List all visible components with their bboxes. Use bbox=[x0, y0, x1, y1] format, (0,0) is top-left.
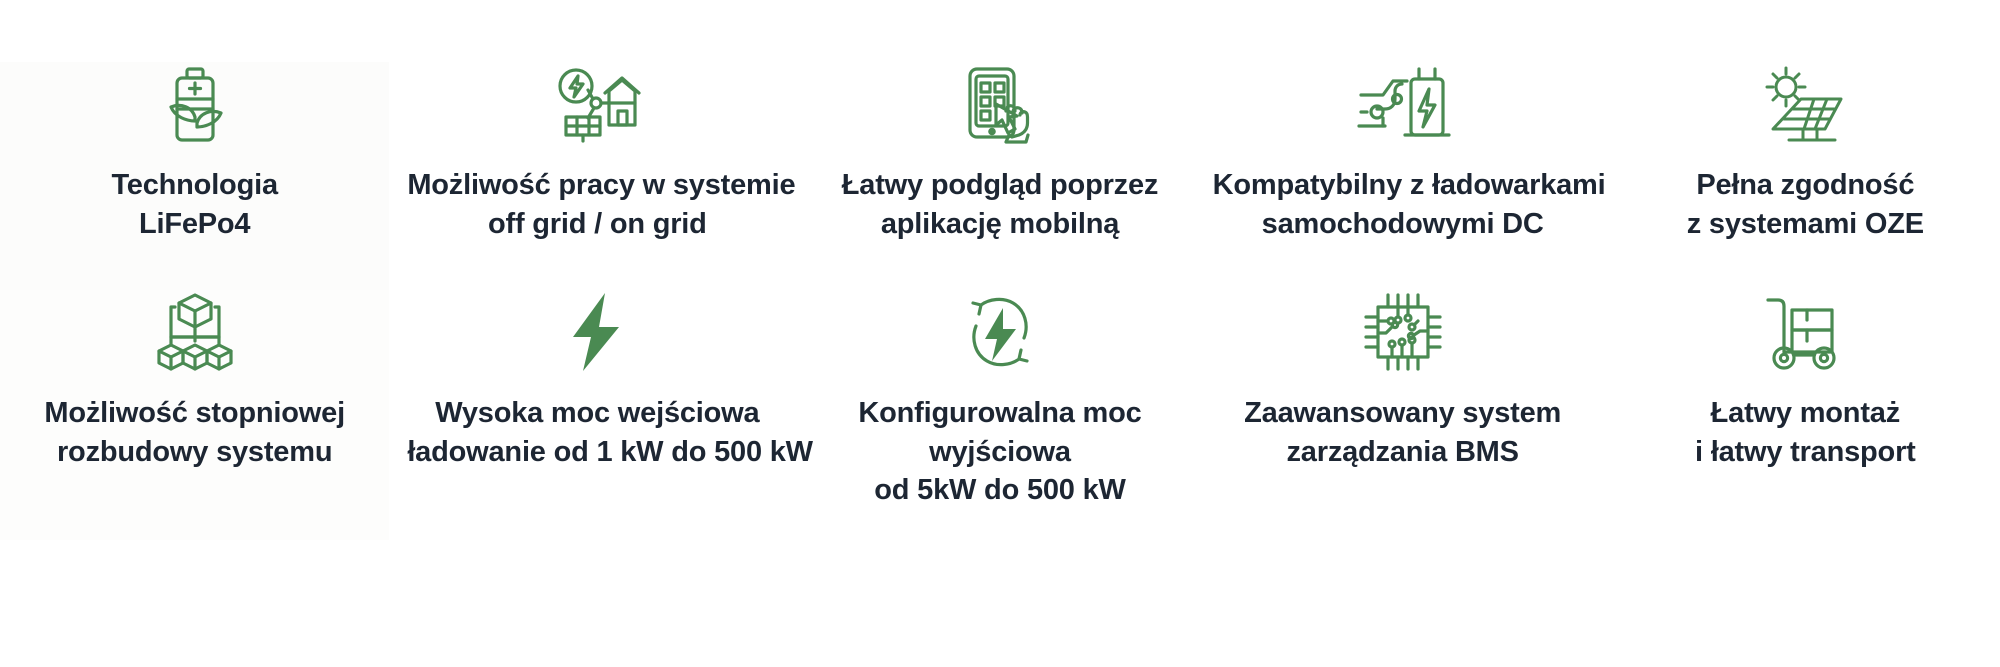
feature-card-oze-compatible: Pełna zgodność z systemami OZE bbox=[1611, 62, 2000, 290]
ev-charger-icon bbox=[1355, 62, 1451, 148]
feature-label-line: Pełna zgodność bbox=[1687, 166, 1924, 205]
feature-label: Konfigurowalna moc wyjściowa od 5kW do 5… bbox=[858, 394, 1141, 510]
feature-card-bms-system: Zaawansowany system zarządzania BMS bbox=[1195, 290, 1611, 540]
hand-truck-icon bbox=[1762, 290, 1848, 374]
feature-label: Możliwość pracy w systemie off grid / on… bbox=[407, 166, 787, 243]
feature-card-technologia-lifepo4: Technologia LiFePo4 bbox=[0, 62, 389, 290]
feature-label: Łatwy montaż i łatwy transport bbox=[1695, 394, 1916, 471]
feature-label: Wysoka moc wejściowa ładowanie od 1 kW d… bbox=[407, 394, 787, 471]
feature-card-high-input-power: Wysoka moc wejściowa ładowanie od 1 kW d… bbox=[389, 290, 805, 540]
feature-label-line: Możliwość stopniowej bbox=[44, 394, 345, 433]
feature-label: Kompatybilny z ładowarkami samochodowymi… bbox=[1213, 166, 1593, 243]
off-grid-on-grid-icon bbox=[552, 62, 642, 148]
feature-card-configurable-output-power: Konfigurowalna moc wyjściowa od 5kW do 5… bbox=[805, 290, 1194, 540]
feature-label-line: Łatwy podgląd poprzez bbox=[842, 166, 1158, 205]
solar-panel-sun-icon bbox=[1759, 62, 1851, 148]
lightning-bolt-icon bbox=[567, 290, 627, 374]
feature-label: Technologia LiFePo4 bbox=[111, 166, 277, 243]
modular-cubes-icon bbox=[151, 290, 239, 374]
feature-label-line: Wysoka moc wejściowa bbox=[407, 394, 787, 433]
feature-label-line: samochodowymi DC bbox=[1213, 205, 1593, 244]
feature-label-line: ładowanie od 1 kW do 500 kW bbox=[407, 433, 787, 472]
feature-label-line: LiFePo4 bbox=[111, 205, 277, 244]
feature-label-line: Kompatybilny z ładowarkami bbox=[1213, 166, 1593, 205]
battery-leaf-icon bbox=[157, 62, 233, 148]
feature-label: Pełna zgodność z systemami OZE bbox=[1687, 166, 1924, 243]
feature-label-line: off grid / on grid bbox=[407, 205, 787, 244]
power-cycle-bolt-icon bbox=[959, 290, 1041, 374]
feature-card-off-grid-on-grid: Możliwość pracy w systemie off grid / on… bbox=[389, 62, 805, 290]
feature-card-modular-expansion: Możliwość stopniowej rozbudowy systemu bbox=[0, 290, 389, 540]
feature-label-line: zarządzania BMS bbox=[1244, 433, 1561, 472]
feature-label: Możliwość stopniowej rozbudowy systemu bbox=[44, 394, 345, 471]
feature-label: Łatwy podgląd poprzez aplikację mobilną bbox=[842, 166, 1158, 243]
features-grid: Technologia LiFePo4 bbox=[0, 0, 2000, 667]
mobile-app-icon bbox=[962, 62, 1038, 148]
feature-label-line: aplikację mobilną bbox=[842, 205, 1158, 244]
feature-label-line: Zaawansowany system bbox=[1244, 394, 1561, 433]
microchip-icon bbox=[1362, 290, 1444, 374]
feature-label-line: rozbudowy systemu bbox=[44, 433, 345, 472]
feature-label-line: z systemami OZE bbox=[1687, 205, 1924, 244]
feature-card-easy-install-transport: Łatwy montaż i łatwy transport bbox=[1611, 290, 2000, 540]
feature-card-mobile-app: Łatwy podgląd poprzez aplikację mobilną bbox=[805, 62, 1194, 290]
feature-label-line: Technologia bbox=[111, 166, 277, 205]
feature-label: Zaawansowany system zarządzania BMS bbox=[1244, 394, 1561, 471]
feature-label-line: i łatwy transport bbox=[1695, 433, 1916, 472]
feature-label-line: od 5kW do 500 kW bbox=[858, 471, 1141, 510]
feature-label-line: wyjściowa bbox=[858, 433, 1141, 472]
feature-card-ev-charger-compatible: Kompatybilny z ładowarkami samochodowymi… bbox=[1195, 62, 1611, 290]
feature-label-line: Konfigurowalna moc bbox=[858, 394, 1141, 433]
feature-label-line: Łatwy montaż bbox=[1695, 394, 1916, 433]
features-board: Technologia LiFePo4 bbox=[0, 0, 2000, 667]
feature-label-line: Możliwość pracy w systemie bbox=[407, 166, 787, 205]
